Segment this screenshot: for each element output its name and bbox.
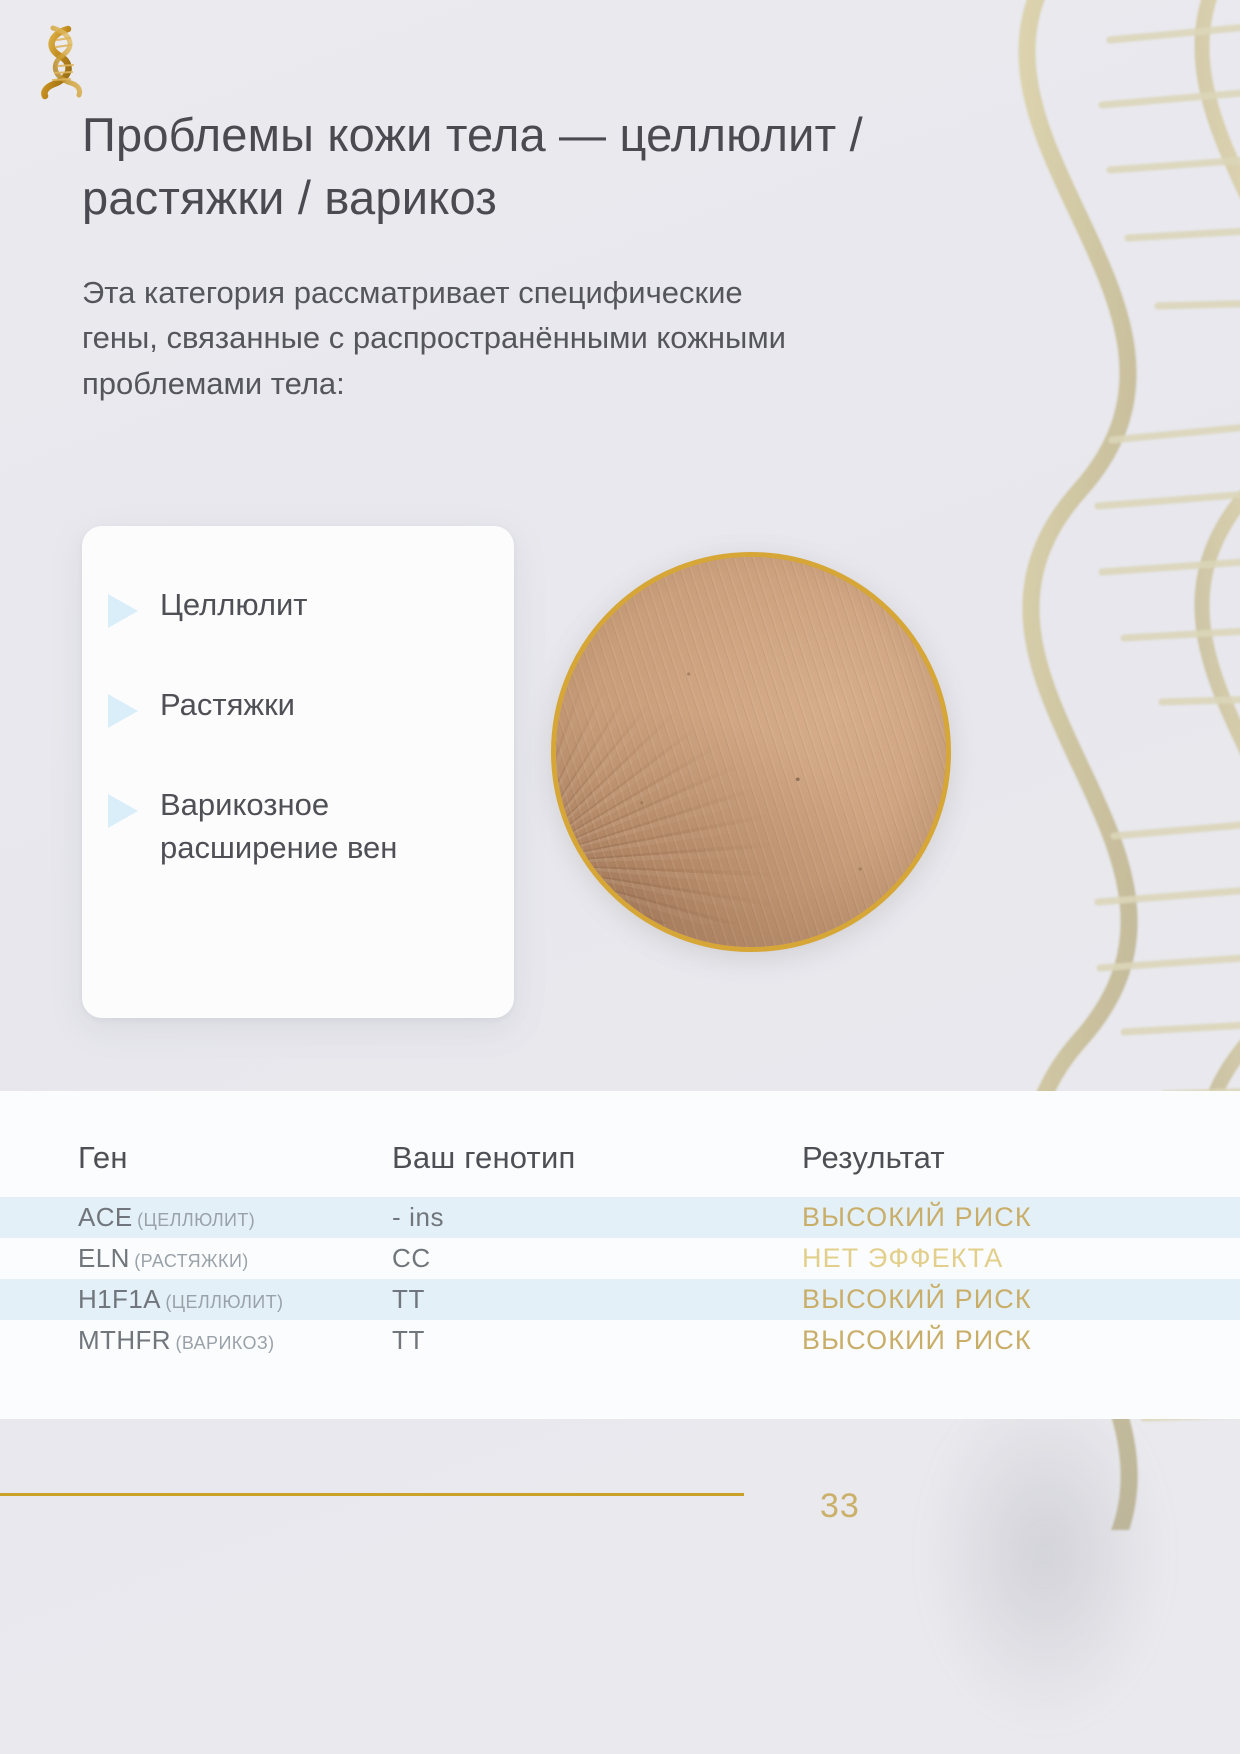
dna-helix-icon [32, 22, 90, 100]
cell-genotype: CC [392, 1243, 802, 1274]
gene-name: ACE [78, 1202, 133, 1232]
list-item: Варикозное расширение вен [82, 784, 514, 870]
list-item-label: Целлюлит [160, 584, 308, 627]
cell-gene: ACE (ЦЕЛЛЮЛИТ) [78, 1202, 392, 1233]
genotype-table: Ген Ваш генотип Результат ACE (ЦЕЛЛЮЛИТ)… [0, 1091, 1240, 1419]
status-badge: ВЫСОКИЙ РИСК [802, 1325, 1240, 1356]
list-item: Целлюлит [82, 584, 514, 628]
triangle-right-icon [108, 594, 138, 628]
page-number: 33 [820, 1487, 860, 1526]
footer-divider [0, 1493, 744, 1496]
table-bottom-padding [0, 1361, 1240, 1381]
slide-page: Проблемы кожи тела — целлюлит / растяжки… [0, 0, 1240, 1754]
gene-note: (ЦЕЛЛЮЛИТ) [137, 1210, 255, 1230]
column-header-genotype: Ваш генотип [392, 1140, 802, 1176]
gene-name: H1F1A [78, 1284, 161, 1314]
gene-note: (ВАРИКОЗ) [175, 1333, 274, 1353]
table-row: ACE (ЦЕЛЛЮЛИТ) - ins ВЫСОКИЙ РИСК [0, 1197, 1240, 1238]
intro-paragraph: Эта категория рассматривает специфически… [82, 270, 802, 406]
table-top-padding [0, 1091, 1240, 1119]
cell-gene: MTHFR (ВАРИКОЗ) [78, 1325, 392, 1356]
table-row: ELN (РАСТЯЖКИ) CC НЕТ ЭФФЕКТА [0, 1238, 1240, 1279]
triangle-right-icon [108, 694, 138, 728]
cell-gene: H1F1A (ЦЕЛЛЮЛИТ) [78, 1284, 392, 1315]
table-row: H1F1A (ЦЕЛЛЮЛИТ) TT ВЫСОКИЙ РИСК [0, 1279, 1240, 1320]
cell-genotype: TT [392, 1325, 802, 1356]
triangle-right-icon [108, 794, 138, 828]
skin-texture-circle-image [551, 552, 951, 952]
gene-name: ELN [78, 1243, 130, 1273]
conditions-card: Целлюлит Растяжки Варикозное расширение … [82, 526, 514, 1018]
table-row: MTHFR (ВАРИКОЗ) TT ВЫСОКИЙ РИСК [0, 1320, 1240, 1361]
page-title: Проблемы кожи тела — целлюлит / растяжки… [82, 104, 962, 229]
gene-name: MTHFR [78, 1325, 171, 1355]
gene-note: (ЦЕЛЛЮЛИТ) [165, 1292, 283, 1312]
list-item: Растяжки [82, 684, 514, 728]
cell-genotype: TT [392, 1284, 802, 1315]
column-header-result: Результат [802, 1140, 1240, 1176]
status-badge: ВЫСОКИЙ РИСК [802, 1284, 1240, 1315]
list-item-label: Варикозное расширение вен [160, 784, 484, 870]
cell-genotype: - ins [392, 1202, 802, 1233]
photo-vignette [556, 557, 946, 947]
gene-note: (РАСТЯЖКИ) [134, 1251, 248, 1271]
status-badge: НЕТ ЭФФЕКТА [802, 1243, 1240, 1274]
column-header-gene: Ген [78, 1140, 392, 1176]
status-badge: ВЫСОКИЙ РИСК [802, 1202, 1240, 1233]
list-item-label: Растяжки [160, 684, 295, 727]
table-header-row: Ген Ваш генотип Результат [0, 1119, 1240, 1197]
cell-gene: ELN (РАСТЯЖКИ) [78, 1243, 392, 1274]
